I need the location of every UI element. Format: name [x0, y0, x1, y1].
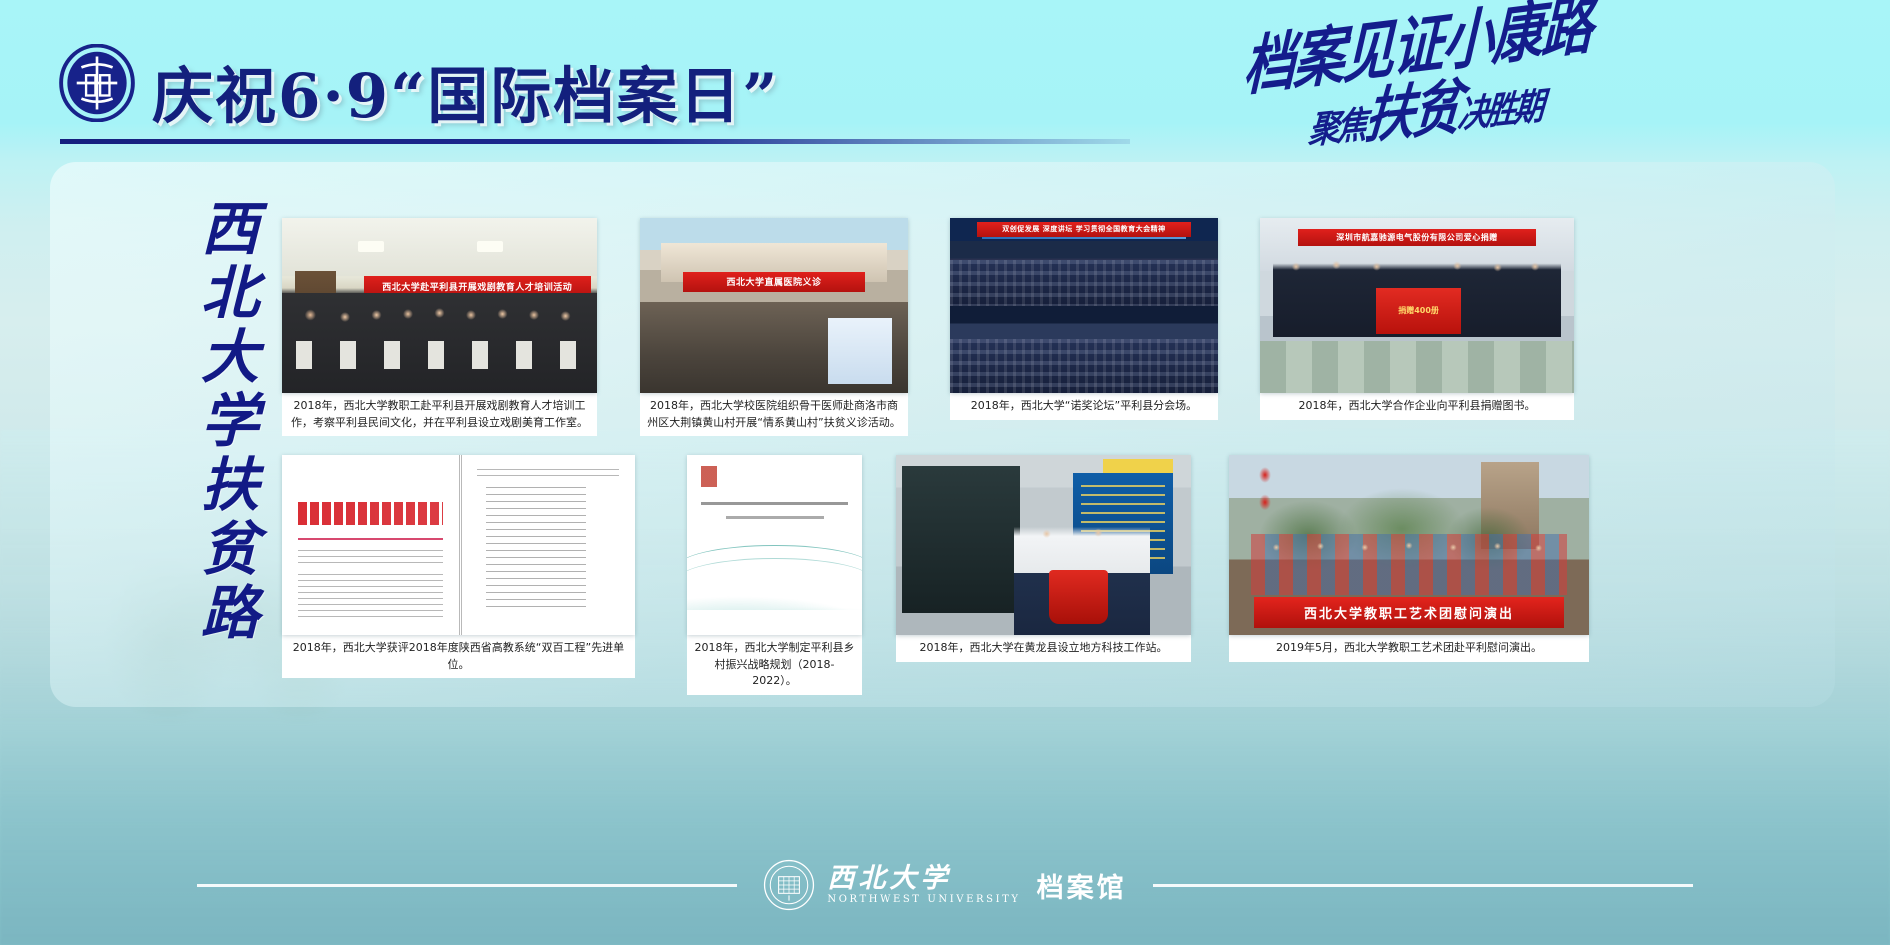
nwu-name-en: NORTHWEST UNIVERSITY	[827, 895, 1020, 905]
photo-caption: 2018年，西北大学教职工赴平利县开展戏剧教育人才培训工作，考察平利县民间文化，…	[282, 393, 597, 436]
exhibit-card[interactable]: 2018年，西北大学制定平利县乡村振兴战略规划（2018-2022）。	[687, 455, 862, 695]
exhibit-card[interactable]: 2018年，西北大学在黄龙县设立地方科技工作站。	[896, 455, 1191, 662]
photo-caption: 2018年，西北大学获评2018年度陕西省高教系统“双百工程”先进单位。	[282, 635, 635, 678]
document-unit-list	[486, 487, 587, 613]
donation-check-amount: 捐赠400册	[1376, 288, 1461, 334]
slogan-line-2-part-a: 聚焦	[1307, 104, 1366, 153]
exhibit-row-2: 2018年，西北大学获评2018年度陕西省高教系统“双百工程”先进单位。 201…	[282, 455, 1589, 695]
photo-drama-education-training[interactable]: 西北大学赴平利县开展戏剧教育人才培训活动	[282, 218, 597, 393]
exhibit-vertical-title: 西北大学扶贫路	[138, 198, 258, 646]
footer-brand: 西北大学 NORTHWEST UNIVERSITY 档案馆	[737, 859, 1152, 911]
slogan-line-2-part-b: 扶贫	[1362, 71, 1462, 151]
photo-caption: 2018年，西北大学“诺奖论坛”平利县分会场。	[950, 393, 1218, 420]
poster-footer: 西北大学 NORTHWEST UNIVERSITY 档案馆	[0, 825, 1890, 945]
poster-root: 庆祝6·9“国际档案日” 档案见证小康路 聚焦扶贫决胜期 西北大学扶贫路 西北大…	[0, 0, 1890, 945]
document-red-header	[298, 502, 443, 525]
photo-banner-text: 双创促发展 深度讲坛 学习贯彻全国教育大会精神	[977, 222, 1191, 238]
document-right-heading	[477, 469, 619, 476]
photo-huanglong-tech-workstation[interactable]	[896, 455, 1191, 635]
document-rule	[298, 538, 443, 540]
exhibit-card[interactable]: 深圳市航嘉驰源电气股份有限公司爱心捐赠 捐赠400册 2018年，西北大学合作企…	[1260, 218, 1574, 420]
slogan-line-2-part-c: 决胜期	[1456, 85, 1543, 137]
photo-caption: 2018年，西北大学校医院组织骨干医师赴商洛市商州区大荆镇黄山村开展“情系黄山村…	[640, 393, 908, 436]
exhibit-card[interactable]: 2018年，西北大学获评2018年度陕西省高教系统“双百工程”先进单位。	[282, 455, 635, 678]
photo-shuangbai-project-document[interactable]	[282, 455, 635, 635]
photo-banner-text: 西北大学教职工艺术团慰问演出	[1254, 597, 1564, 628]
china-archives-emblem-icon	[58, 44, 136, 122]
photo-banner-text: 西北大学直属医院义诊	[683, 272, 865, 291]
photo-caption: 2018年，西北大学在黄龙县设立地方科技工作站。	[896, 635, 1191, 662]
nwu-wordmark: 西北大学 NORTHWEST UNIVERSITY	[827, 865, 1020, 905]
photo-medical-clinic-huangshan-village[interactable]: 西北大学直属医院义诊	[640, 218, 908, 393]
footer-department-label: 档案馆	[1037, 866, 1127, 905]
nwu-logo-icon	[701, 466, 736, 488]
northwest-university-seal-icon	[763, 859, 815, 911]
photo-rural-revitalization-plan-cover[interactable]	[687, 455, 862, 635]
exhibit-card[interactable]: 西北大学赴平利县开展戏剧教育人才培训活动 2018年，西北大学教职工赴平利县开展…	[282, 218, 597, 436]
nwu-name-cn: 西北大学	[827, 865, 1020, 892]
footer-rule-left	[197, 884, 737, 887]
photo-caption: 2018年，西北大学合作企业向平利县捐赠图书。	[1260, 393, 1574, 420]
exhibit-card[interactable]: 西北大学直属医院义诊 2018年，西北大学校医院组织骨干医师赴商洛市商州区大荆镇…	[640, 218, 908, 436]
photo-nobel-forum-pingli-venue[interactable]: 双创促发展 深度讲坛 学习贯彻全国教育大会精神	[950, 218, 1218, 393]
document-subject-lines	[298, 550, 443, 566]
poster-header: 庆祝6·9“国际档案日” 档案见证小康路 聚焦扶贫决胜期	[0, 0, 1890, 165]
photo-art-troupe-performance-pingli[interactable]: 西北大学教职工艺术团慰问演出	[1229, 455, 1589, 635]
photo-banner-text: 深圳市航嘉驰源电气股份有限公司爱心捐赠	[1298, 229, 1537, 247]
exhibit-card[interactable]: 西北大学教职工艺术团慰问演出 2019年5月，西北大学教职工艺术团赴平利慰问演出…	[1229, 455, 1589, 662]
exhibit-row-1: 西北大学赴平利县开展戏剧教育人才培训活动 2018年，西北大学教职工赴平利县开展…	[282, 218, 1574, 436]
photo-caption: 2018年，西北大学制定平利县乡村振兴战略规划（2018-2022）。	[687, 635, 862, 695]
photo-book-donation-ceremony[interactable]: 深圳市航嘉驰源电气股份有限公司爱心捐赠 捐赠400册	[1260, 218, 1574, 393]
document-body-lines	[298, 574, 443, 621]
footer-rule-right	[1153, 884, 1693, 887]
photo-caption: 2019年5月，西北大学教职工艺术团赴平利慰问演出。	[1229, 635, 1589, 662]
exhibit-card[interactable]: 双创促发展 深度讲坛 学习贯彻全国教育大会精神 2018年，西北大学“诺奖论坛”…	[950, 218, 1218, 420]
calligraphy-slogan: 档案见证小康路 聚焦扶贫决胜期	[1232, 8, 1872, 158]
title-underline-rule	[60, 139, 1130, 144]
page-title: 庆祝6·9“国际档案日”	[152, 46, 779, 135]
